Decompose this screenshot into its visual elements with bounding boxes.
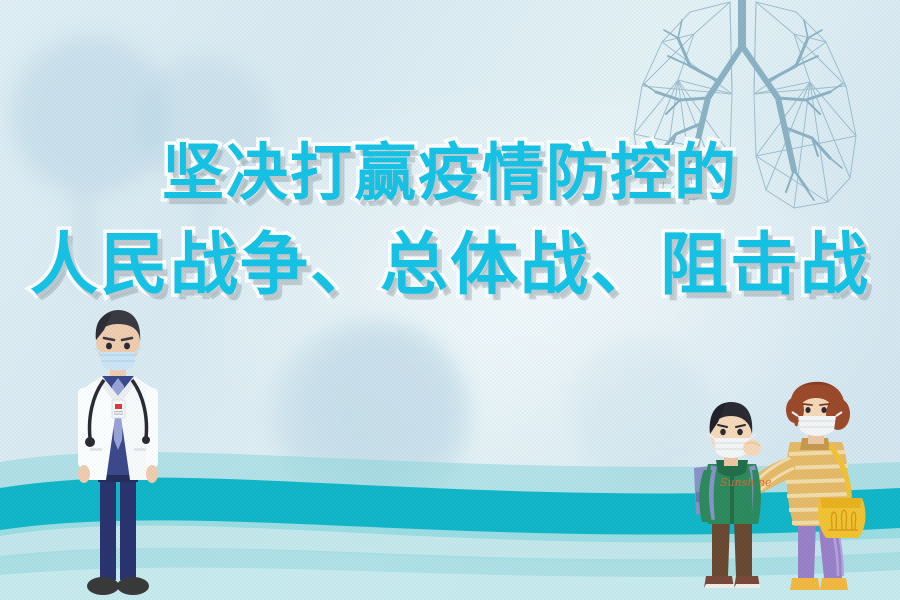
title-line-1: 坚决打赢疫情防控的 [0,140,900,207]
poster-title: 坚决打赢疫情防控的 人民战争、总体战、阻击战 [0,140,900,302]
svg-text:Sunshine: Sunshine [720,476,772,489]
boy-figure: Sunshine [694,402,772,588]
doctor-figure [48,300,188,600]
title-line-2: 人民战争、总体战、阻击战 [0,229,900,302]
family-figures: Sunshine [690,380,890,600]
poster-canvas: 坚决打赢疫情防控的 人民战争、总体战、阻击战 [0,0,900,600]
